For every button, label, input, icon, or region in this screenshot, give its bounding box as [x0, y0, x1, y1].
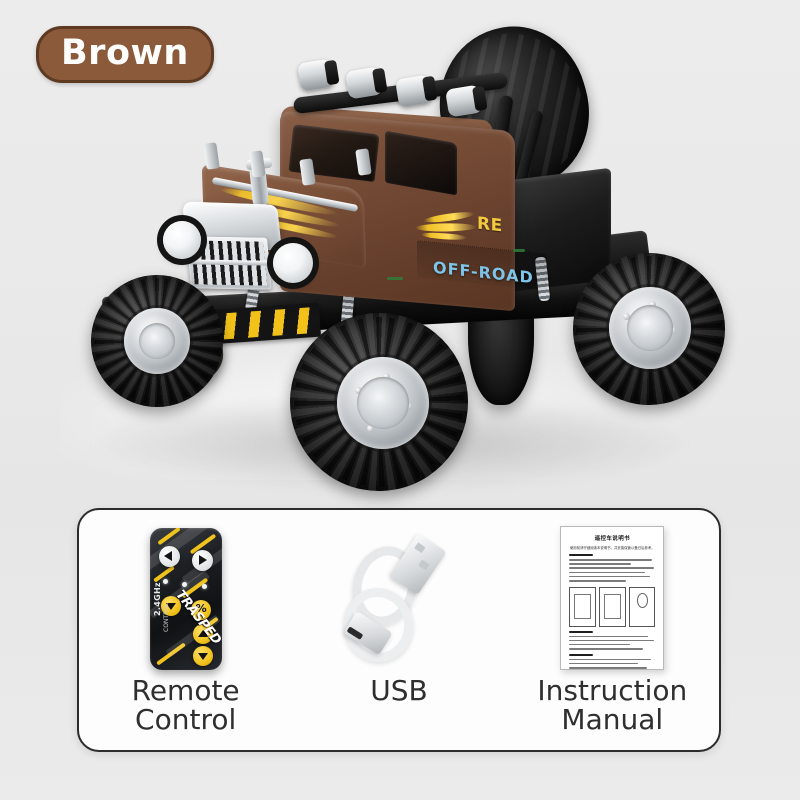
roof-spotlight — [297, 59, 335, 92]
circuit-glint — [513, 249, 525, 252]
rim-lug — [669, 327, 676, 334]
rim-lug — [383, 373, 390, 380]
manual-text-line — [569, 636, 648, 638]
accessory-label-usb: USB — [370, 676, 427, 705]
flame-stroke — [421, 232, 467, 241]
flame-stroke — [423, 210, 475, 224]
manual-text-line — [569, 659, 651, 661]
manual-text-line — [569, 576, 650, 578]
rc-truck: RE OFF-ROAD — [85, 25, 705, 485]
remote-led-indicator — [182, 582, 187, 587]
manual-text-line — [569, 567, 654, 569]
manual-label-line1: Instruction — [537, 676, 687, 705]
roof-spotlight — [345, 67, 383, 100]
wheel-front-left — [91, 275, 223, 407]
rim-lug — [405, 403, 412, 410]
instruction-manual-art: 遥控车说明书 使用前请仔细阅读本说明书，并妥善保管以备日后参考。 — [514, 524, 710, 674]
usb-cable-art — [301, 524, 497, 674]
lightbar-mount — [249, 150, 265, 178]
manual-label-line2: Manual — [537, 705, 687, 734]
wheel-rim — [609, 287, 691, 369]
rim-lug — [649, 301, 656, 308]
wheel-rim — [337, 357, 429, 449]
circuit-glint — [387, 277, 403, 280]
right-arrow-icon — [199, 555, 207, 565]
remote-led-indicator — [202, 584, 207, 589]
manual-title: 遥控车说明书 — [569, 534, 655, 542]
manual-diagram-group — [569, 587, 655, 627]
manual-text-line — [569, 559, 652, 561]
headlight-left — [163, 221, 201, 259]
instruction-manual-sheet: 遥控车说明书 使用前请仔细阅读本说明书，并妥善保管以备日后参考。 — [560, 526, 664, 670]
remote-control-device: % 2.4GHz CONTROL TRASPED — [150, 528, 222, 670]
accessory-label-remote: Remote Control — [132, 676, 240, 734]
manual-diagram — [599, 587, 626, 627]
manual-text-line — [569, 667, 646, 669]
manual-text-line — [569, 572, 645, 574]
diagram-inner — [604, 594, 621, 618]
accessory-instruction-manual[interactable]: 遥控车说明书 使用前请仔细阅读本说明书，并妥善保管以备日后参考。 — [514, 524, 710, 734]
remote-frequency-label: 2.4GHz — [153, 582, 162, 616]
remote-left-arrow-button[interactable] — [159, 546, 180, 567]
diagram-inner — [574, 594, 591, 618]
remote-control-art: % 2.4GHz CONTROL TRASPED — [88, 524, 284, 674]
wheel-rear-right — [573, 253, 725, 405]
manual-text-line — [569, 640, 653, 642]
manual-section-head — [569, 554, 593, 556]
remote-label-line1: Remote — [132, 676, 240, 705]
diagram-circle — [637, 593, 648, 608]
roof-spotlight — [395, 75, 433, 108]
usb-label-line1: USB — [370, 676, 427, 705]
lightbar-mount — [203, 142, 219, 170]
accessory-usb-cable[interactable]: USB — [301, 524, 497, 705]
rim-lug — [367, 425, 374, 432]
manual-text-line — [569, 580, 626, 582]
manual-section-head — [569, 631, 593, 633]
roof-spotlight — [445, 85, 483, 118]
decal-re-text: RE — [477, 214, 503, 237]
remote-led-indicator — [163, 579, 168, 584]
wheel-rim — [124, 308, 190, 374]
rim-lug — [623, 313, 630, 320]
manual-diagram — [569, 587, 596, 627]
usb-cable-device — [339, 532, 459, 672]
left-arrow-icon — [164, 551, 172, 561]
rim-lug — [355, 387, 362, 394]
accessories-panel: % 2.4GHz CONTROL TRASPED Remote Contro — [77, 508, 721, 752]
accessory-remote-control[interactable]: % 2.4GHz CONTROL TRASPED Remote Contro — [88, 524, 284, 734]
product-image-stage: Brown — [0, 0, 800, 800]
product-hero-image: RE OFF-ROAD — [0, 0, 800, 500]
headlight-right — [273, 243, 313, 283]
down-triangle-icon — [198, 653, 208, 660]
manual-text-line — [569, 663, 638, 665]
remote-control-label: CONTROL — [163, 603, 170, 632]
manual-section-head — [569, 654, 593, 656]
manual-diagram — [629, 587, 656, 627]
manual-text-line — [569, 563, 631, 565]
remote-right-arrow-button[interactable] — [192, 550, 213, 571]
manual-text-line — [569, 648, 643, 650]
remote-reverse-button[interactable] — [193, 646, 213, 666]
accessory-label-manual: Instruction Manual — [537, 676, 687, 734]
flame-stroke — [415, 223, 478, 232]
manual-subtitle: 使用前请仔细阅读本说明书，并妥善保管以备日后参考。 — [569, 545, 655, 550]
manual-text-line — [569, 644, 629, 646]
wheel-front-right — [290, 313, 468, 491]
remote-label-line2: Control — [132, 705, 240, 734]
